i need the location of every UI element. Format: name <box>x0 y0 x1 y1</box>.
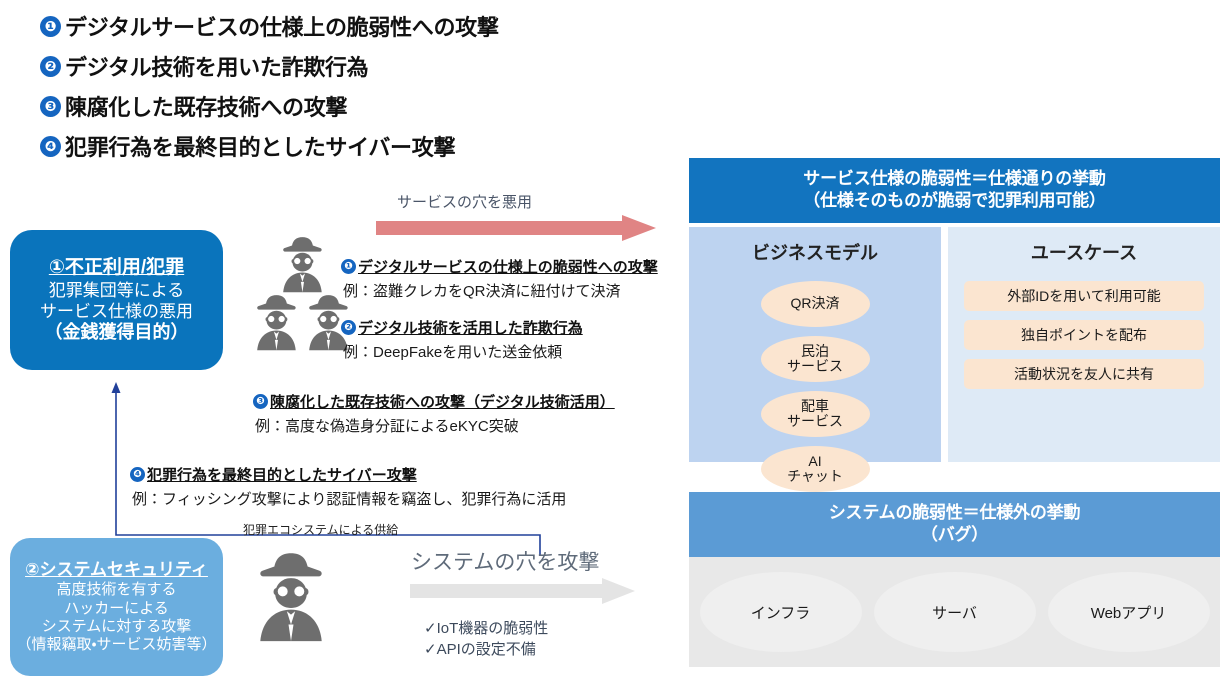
attack-item-2: ❷ デジタル技術を活用した詐欺行為 例：DeepFakeを用いた送金依頼 <box>341 317 583 362</box>
check-item-iot: ✓IoT機器の脆弱性 <box>424 618 548 639</box>
left-box-fraud-line2: サービス仕様の悪用 <box>40 302 193 323</box>
left-box-fraud: ①不正利用/犯罪 犯罪集団等による サービス仕様の悪用 （金銭獲得目的） <box>10 230 223 370</box>
attack-item-4-example: 例：フィッシング攻撃により認証情報を竊盗し、犯罪行為に活用 <box>132 488 566 509</box>
left-box-security-line3: システムに対する攻撃 <box>42 618 192 636</box>
supply-chain-label: 犯罪エコシステムによる供給 <box>243 521 398 538</box>
gray-arrow-label: システムの穴を攻撃 <box>411 546 599 576</box>
use-case-item: 活動状況を友人に共有 <box>964 359 1204 389</box>
header-item-label-2: デジタル技術を用いた詐欺行為 <box>65 50 368 82</box>
number-badge-1-small-icon: ❶ <box>341 259 356 274</box>
service-abuse-arrow-icon <box>376 215 656 241</box>
attack-item-3-example: 例：高度な偽造身分証によるeKYC突破 <box>255 415 615 436</box>
number-badge-1-icon: ❶ <box>40 16 61 37</box>
left-box-fraud-line3: （金銭獲得目的） <box>45 322 189 344</box>
attack-item-3: ❸ 陳腐化した既存技術への攻撃（デジタル技術活用） 例：高度な偽造身分証によるe… <box>253 391 615 436</box>
panel-spec-columns: ビジネスモデル QR決済 民泊サービス 配車サービス AIチャット etc. ユ… <box>689 227 1220 462</box>
business-model-item: 配車サービス <box>761 391 870 437</box>
left-box-system-security: ②システムセキュリティ 高度技術を有する ハッカーによる システムに対する攻撃 … <box>10 538 223 676</box>
header-item-label-1: デジタルサービスの仕様上の脆弱性への攻撃 <box>65 10 499 42</box>
diagram-canvas: ❶ デジタルサービスの仕様上の脆弱性への攻撃 ❷ デジタル技術を用いた詐欺行為 … <box>0 0 1220 685</box>
header-list-item: ❹ 犯罪行為を最終目的としたサイバー攻撃 <box>40 126 680 166</box>
column-use-case: ユースケース 外部IDを用いて利用可能 独自ポイントを配布 活動状況を友人に共有 <box>948 227 1220 462</box>
system-attack-arrow-icon <box>410 578 635 604</box>
use-case-pill-list: 外部IDを用いて利用可能 独自ポイントを配布 活動状況を友人に共有 <box>948 281 1220 389</box>
column-business-model: ビジネスモデル QR決済 民泊サービス 配車サービス AIチャット etc. <box>689 227 941 462</box>
red-arrow-label: サービスの穴を悪用 <box>397 191 532 212</box>
attack-item-4: ❹ 犯罪行為を最終目的としたサイバー攻撃 例：フィッシング攻撃により認証情報を竊… <box>130 464 566 509</box>
attack-item-1: ❶ デジタルサービスの仕様上の脆弱性への攻撃 例：盗難クレカをQR決済に紐付けて… <box>341 256 658 301</box>
left-box-security-title: ②システムセキュリティ <box>25 560 208 581</box>
attack-item-1-title: デジタルサービスの仕様上の脆弱性への攻撃 <box>358 256 658 277</box>
number-badge-4-icon: ❹ <box>40 136 61 157</box>
system-attack-checklist: ✓IoT機器の脆弱性 ✓APIの設定不備 <box>424 618 548 661</box>
use-case-item: 独自ポイントを配布 <box>964 320 1204 350</box>
attack-item-4-title-row: ❹ 犯罪行為を最終目的としたサイバー攻撃 <box>130 464 566 485</box>
panel-system-header-line1: システムの脆弱性＝仕様外の挙動 <box>689 502 1220 524</box>
business-model-ellipse-grid: QR決済 民泊サービス 配車サービス AIチャット <box>689 281 941 492</box>
header-item-label-3: 陳腐化した既存技術への攻撃 <box>65 90 347 122</box>
left-box-security-line4: （情報竊取・サービス妨害等） <box>16 636 216 654</box>
panel-system-header: システムの脆弱性＝仕様外の挙動 （バグ） <box>689 492 1220 557</box>
number-badge-4-small-icon: ❹ <box>130 467 145 482</box>
system-item: Webアプリ <box>1048 572 1210 652</box>
panel-spec-vulnerability: サービス仕様の脆弱性＝仕様通りの挙動 （仕様そのものが脆弱で犯罪利用可能） ビジ… <box>689 158 1220 463</box>
business-model-item: 民泊サービス <box>761 336 870 382</box>
header-item-label-4: 犯罪行為を最終目的としたサイバー攻撃 <box>65 130 455 162</box>
header-attack-list: ❶ デジタルサービスの仕様上の脆弱性への攻撃 ❷ デジタル技術を用いた詐欺行為 … <box>40 6 680 166</box>
left-box-security-line1: 高度技術を有する <box>56 581 176 599</box>
number-badge-3-icon: ❸ <box>40 96 61 117</box>
left-box-fraud-title: ①不正利用/犯罪 <box>49 256 184 279</box>
number-badge-2-icon: ❷ <box>40 56 61 77</box>
check-item-api: ✓APIの設定不備 <box>424 639 548 660</box>
left-box-fraud-line1: 犯罪集団等による <box>49 281 185 302</box>
number-badge-2-small-icon: ❷ <box>341 320 356 335</box>
attack-item-4-title: 犯罪行為を最終目的としたサイバー攻撃 <box>147 464 417 485</box>
panel-system-header-line2: （バグ） <box>689 524 1220 546</box>
header-list-item: ❶ デジタルサービスの仕様上の脆弱性への攻撃 <box>40 6 680 46</box>
header-list-item: ❸ 陳腐化した既存技術への攻撃 <box>40 86 680 126</box>
attack-item-2-example: 例：DeepFakeを用いた送金依頼 <box>343 341 583 362</box>
panel-spec-header-line2: （仕様そのものが脆弱で犯罪利用可能） <box>689 190 1220 212</box>
use-case-item: 外部IDを用いて利用可能 <box>964 281 1204 311</box>
panel-system-vulnerability: システムの脆弱性＝仕様外の挙動 （バグ） インフラ サーバ Webアプリ <box>689 492 1220 677</box>
number-badge-3-small-icon: ❸ <box>253 394 268 409</box>
attack-item-3-title-row: ❸ 陳腐化した既存技術への攻撃（デジタル技術活用） <box>253 391 615 412</box>
attack-item-1-title-row: ❶ デジタルサービスの仕様上の脆弱性への攻撃 <box>341 256 658 277</box>
panel-spec-header-line1: サービス仕様の脆弱性＝仕様通りの挙動 <box>689 168 1220 190</box>
header-list-item: ❷ デジタル技術を用いた詐欺行為 <box>40 46 680 86</box>
left-box-security-line2: ハッカーによる <box>64 600 169 618</box>
column-business-model-title: ビジネスモデル <box>689 239 941 265</box>
attack-item-2-title-row: ❷ デジタル技術を活用した詐欺行為 <box>341 317 583 338</box>
panel-system-body: インフラ サーバ Webアプリ <box>689 557 1220 667</box>
system-item: サーバ <box>874 572 1036 652</box>
business-model-item: QR決済 <box>761 281 870 327</box>
column-use-case-title: ユースケース <box>948 239 1220 265</box>
business-model-item: AIチャット <box>761 446 870 492</box>
attack-item-2-title: デジタル技術を活用した詐欺行為 <box>358 317 583 338</box>
system-item: インフラ <box>700 572 862 652</box>
attack-item-1-example: 例：盗難クレカをQR決済に紐付けて決済 <box>343 280 658 301</box>
attack-item-3-title: 陳腐化した既存技術への攻撃（デジタル技術活用） <box>270 391 615 412</box>
panel-spec-header: サービス仕様の脆弱性＝仕様通りの挙動 （仕様そのものが脆弱で犯罪利用可能） <box>689 158 1220 223</box>
hacker-icon <box>252 548 330 648</box>
